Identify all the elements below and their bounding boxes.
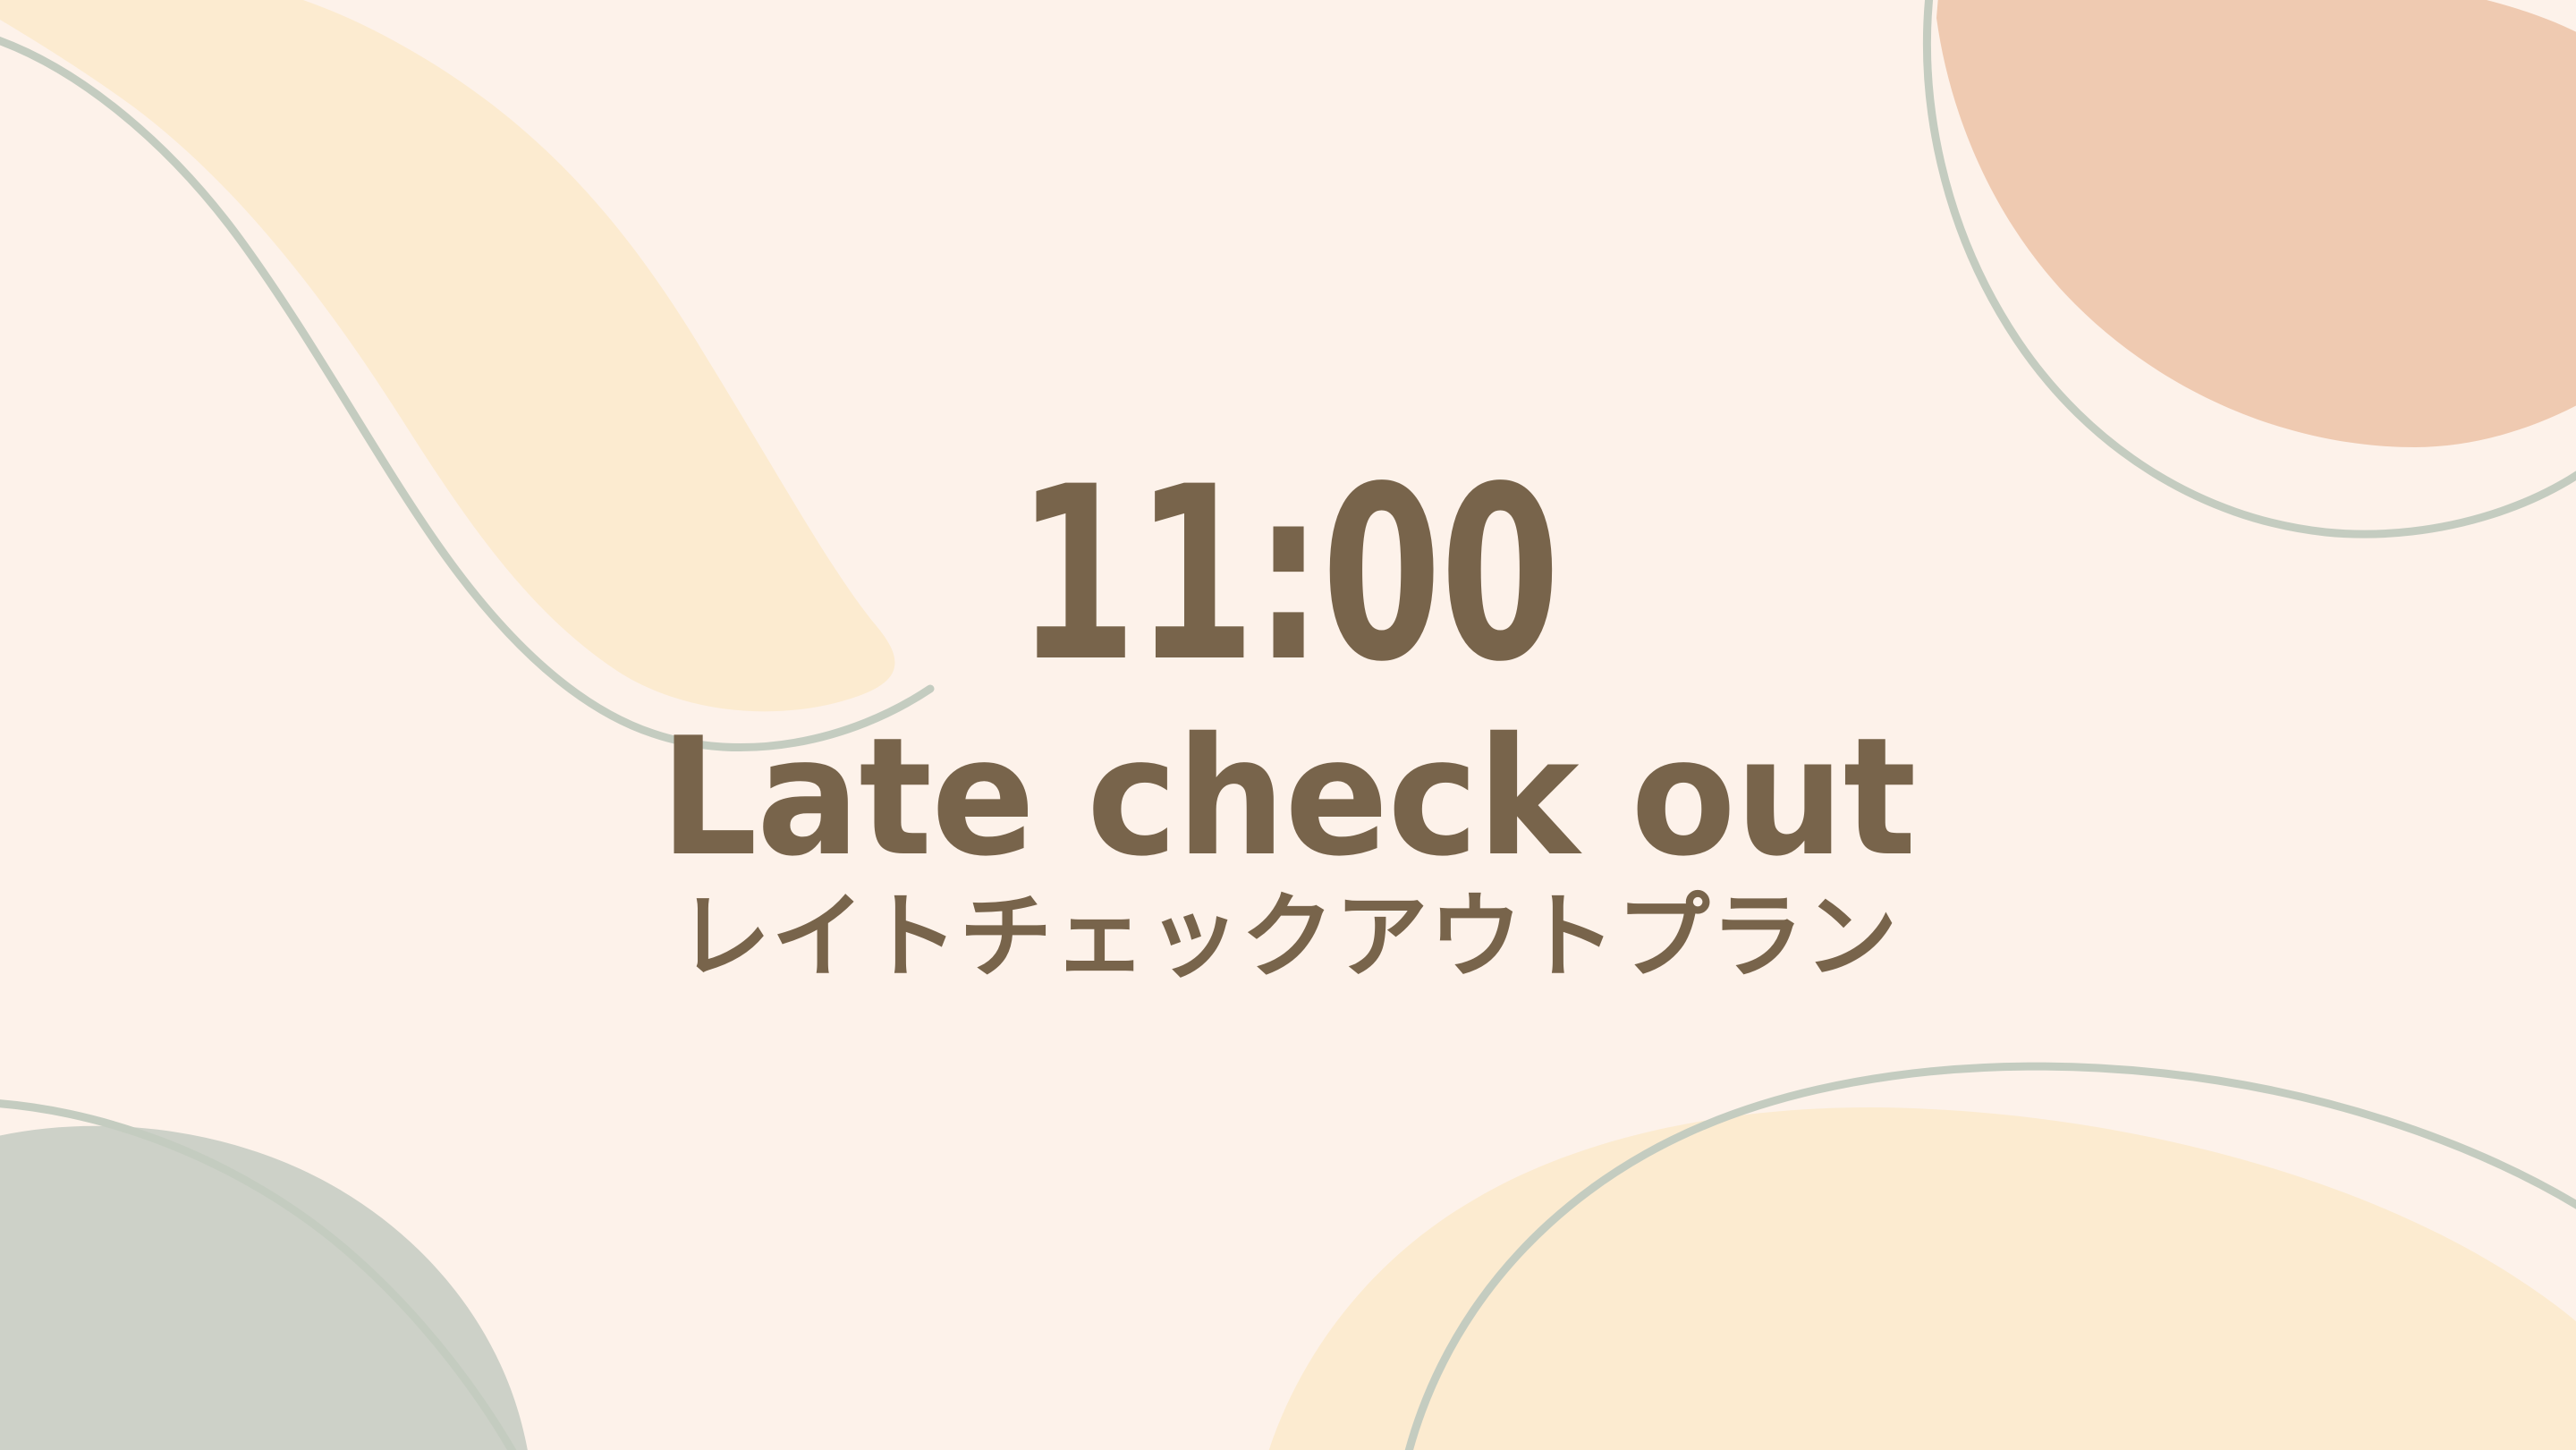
plan-title-ja: レイトチェックアウトプラン bbox=[677, 886, 1898, 988]
plan-title-en: Late check out bbox=[660, 715, 1916, 881]
checkout-time: 11:00 bbox=[1017, 462, 1559, 690]
poster-canvas: 11:00 Late check out レイトチェックアウトプラン bbox=[0, 0, 2576, 1450]
poster-text-block: 11:00 Late check out レイトチェックアウトプラン bbox=[0, 0, 2576, 1450]
